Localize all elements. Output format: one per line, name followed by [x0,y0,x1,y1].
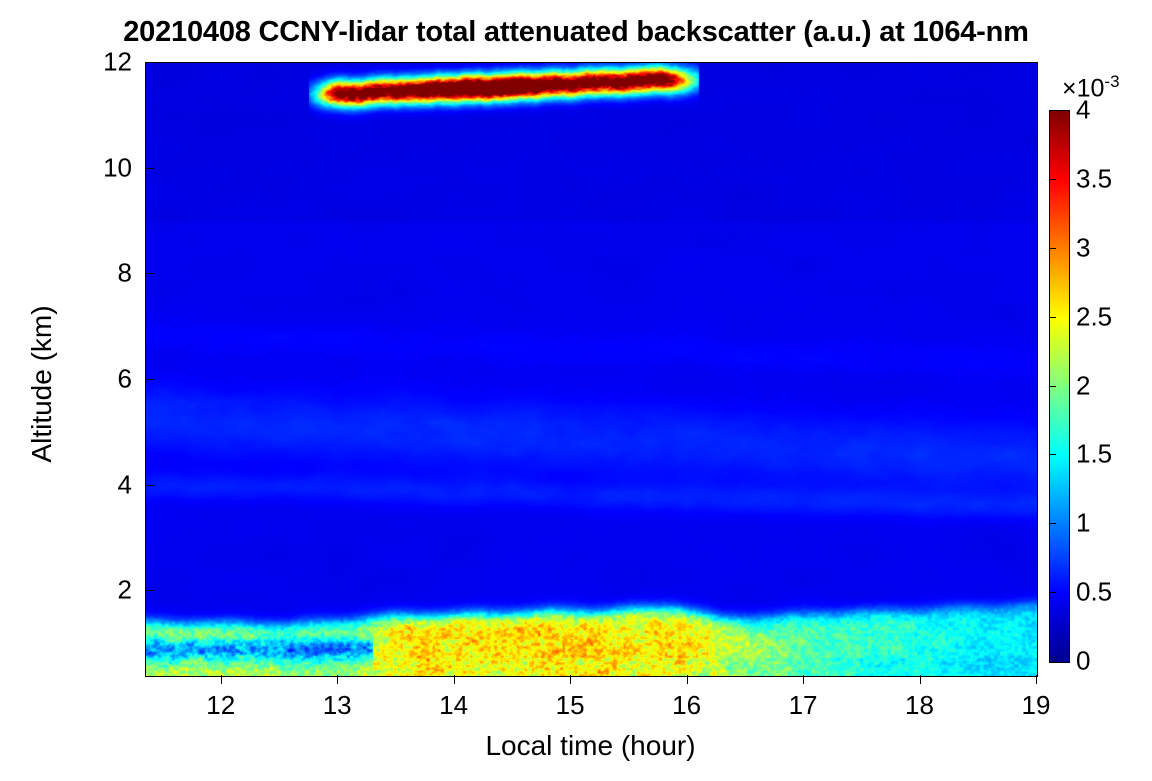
colorbar [1049,110,1070,663]
y-tick [145,485,154,486]
colorbar-tick-label: 3.5 [1076,163,1112,194]
x-tick [803,675,804,684]
colorbar-tick-label: 2 [1076,370,1090,401]
x-tick [454,675,455,684]
colorbar-tick [1049,248,1056,249]
colorbar-tick [1049,386,1056,387]
x-tick [687,675,688,684]
y-axis-tick-labels: 24681012 [0,0,140,781]
x-tick [1036,675,1037,684]
heatmap-plot-area [145,62,1038,677]
colorbar-tick-label: 1 [1076,508,1090,539]
x-tick-label: 14 [439,690,468,721]
y-tick-label: 12 [42,47,132,78]
y-tick [145,62,154,63]
x-tick-label: 12 [206,690,235,721]
y-tick-label: 10 [42,152,132,183]
x-tick [570,675,571,684]
x-tick [337,675,338,684]
colorbar-gradient [1050,111,1069,662]
page-title: 20210408 CCNY-lidar total attenuated bac… [0,16,1152,49]
colorbar-tick-label: 4 [1076,95,1090,126]
x-tick-label: 17 [789,690,818,721]
colorbar-tick [1049,592,1056,593]
y-tick [145,168,154,169]
x-tick-label: 13 [323,690,352,721]
y-tick [145,590,154,591]
x-tick-label: 15 [556,690,585,721]
x-tick [920,675,921,684]
x-tick-label: 16 [672,690,701,721]
y-tick [145,273,154,274]
x-axis-title: Local time (hour) [145,730,1036,762]
colorbar-tick [1049,454,1056,455]
x-tick [221,675,222,684]
y-tick-label: 2 [42,575,132,606]
lidar-backscatter-heatmap [146,63,1037,676]
x-tick-label: 19 [1022,690,1051,721]
colorbar-tick-label: 1.5 [1076,439,1112,470]
y-axis-title: Altitude (km) [26,254,58,514]
colorbar-tick-label: 3 [1076,232,1090,263]
colorbar-tick [1049,317,1056,318]
y-tick [145,379,154,380]
colorbar-tick [1049,179,1056,180]
colorbar-tick-label: 2.5 [1076,301,1112,332]
colorbar-tick-label: 0 [1076,646,1090,677]
x-tick-label: 18 [905,690,934,721]
colorbar-tick [1049,523,1056,524]
colorbar-multiplier: ×10-3 [1062,72,1120,103]
colorbar-tick-label: 0.5 [1076,577,1112,608]
